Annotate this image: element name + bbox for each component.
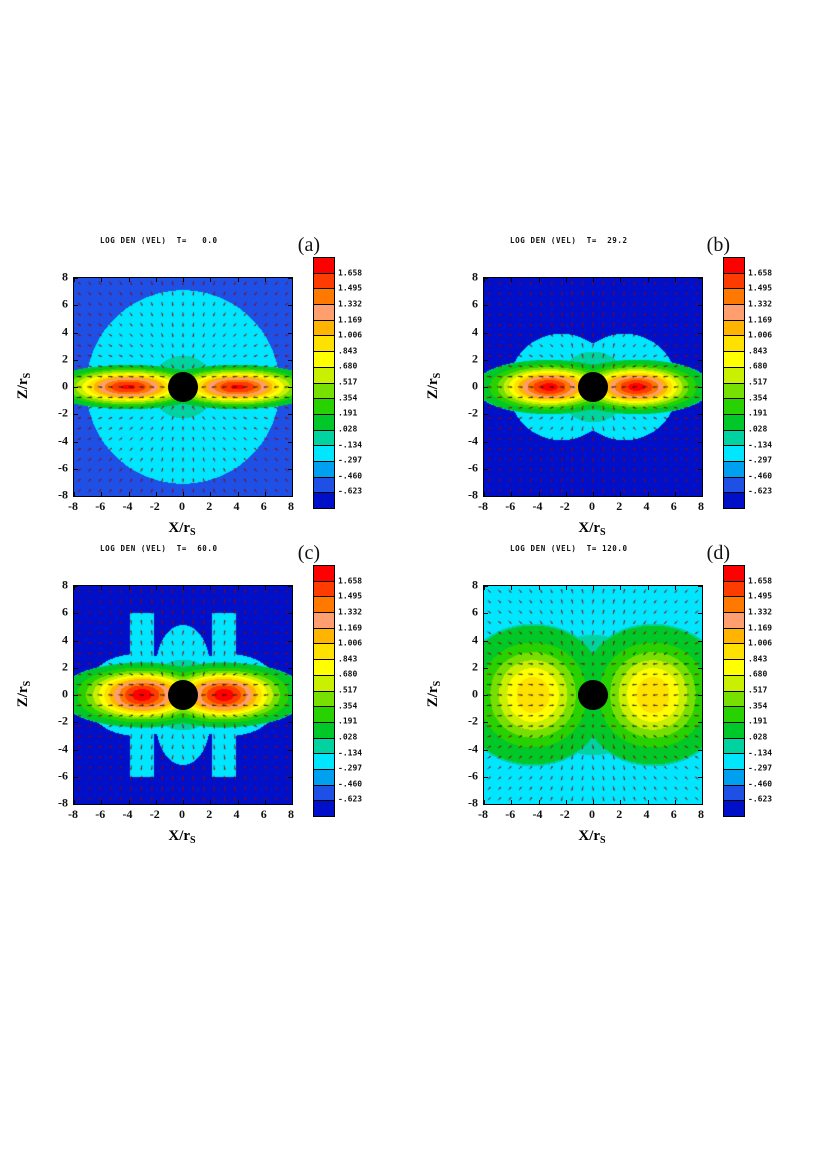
y-tick bbox=[73, 641, 78, 642]
y-tick bbox=[288, 360, 293, 361]
x-tick bbox=[566, 277, 567, 282]
x-tick bbox=[648, 492, 649, 497]
panel-a-plot-area bbox=[73, 277, 293, 497]
x-tick-label: 0 bbox=[589, 807, 595, 822]
colorbar-swatch bbox=[724, 384, 744, 400]
colorbar-swatch bbox=[724, 352, 744, 368]
x-tick-label: 0 bbox=[179, 499, 185, 514]
x-tick-label: 4 bbox=[234, 499, 240, 514]
x-tick bbox=[265, 277, 266, 282]
x-tick bbox=[101, 492, 102, 497]
y-tick-label: 6 bbox=[46, 605, 68, 620]
x-tick bbox=[129, 277, 130, 282]
x-tick-label: -8 bbox=[68, 499, 78, 514]
x-tick-label: 6 bbox=[671, 499, 677, 514]
panel-a-title: LOG DEN (VEL) T= 0.0 bbox=[100, 236, 218, 245]
x-tick bbox=[238, 585, 239, 590]
y-tick-label: -4 bbox=[456, 741, 478, 756]
colorbar-swatch bbox=[314, 321, 334, 337]
panel-d-central-mask bbox=[578, 680, 608, 710]
y-tick-label: -2 bbox=[456, 714, 478, 729]
panel-a-central-mask bbox=[168, 372, 198, 402]
y-tick-label: 6 bbox=[46, 297, 68, 312]
colorbar-swatch bbox=[724, 321, 744, 337]
y-tick bbox=[288, 442, 293, 443]
colorbar-swatch bbox=[314, 352, 334, 368]
y-tick-label: 8 bbox=[456, 270, 478, 285]
colorbar-swatch bbox=[314, 462, 334, 478]
colorbar-swatch bbox=[314, 613, 334, 629]
y-tick-label: 0 bbox=[456, 379, 478, 394]
y-tick bbox=[698, 641, 703, 642]
x-tick bbox=[566, 800, 567, 805]
y-tick-label: -2 bbox=[46, 406, 68, 421]
x-tick bbox=[648, 277, 649, 282]
panel-b: LOG DEN (VEL) T= 29.2 (b) X/rS Z/rS 1.65… bbox=[418, 232, 818, 552]
x-tick bbox=[566, 585, 567, 590]
y-tick bbox=[483, 777, 488, 778]
panel-a-y-axis-title: Z/rS bbox=[15, 373, 33, 399]
colorbar-swatch bbox=[724, 723, 744, 739]
y-tick bbox=[288, 414, 293, 415]
colorbar-tick-label: -.623 bbox=[338, 487, 362, 496]
colorbar-swatch bbox=[724, 582, 744, 598]
y-tick-label: -8 bbox=[456, 796, 478, 811]
colorbar-swatch bbox=[314, 754, 334, 770]
y-tick bbox=[288, 804, 293, 805]
colorbar-tick-label: -.460 bbox=[748, 471, 772, 480]
y-tick bbox=[288, 722, 293, 723]
panel-c-tag: (c) bbox=[298, 542, 320, 565]
colorbar-tick-label: .517 bbox=[748, 378, 767, 387]
x-tick bbox=[539, 492, 540, 497]
colorbar-swatch bbox=[314, 801, 334, 816]
x-tick bbox=[511, 585, 512, 590]
colorbar-swatch bbox=[724, 707, 744, 723]
y-tick-label: 6 bbox=[456, 297, 478, 312]
y-tick bbox=[73, 442, 78, 443]
y-tick bbox=[483, 305, 488, 306]
y-tick-label: -2 bbox=[456, 406, 478, 421]
y-tick bbox=[288, 613, 293, 614]
colorbar-swatch bbox=[724, 644, 744, 660]
x-tick-label: -4 bbox=[123, 499, 133, 514]
y-tick-label: 0 bbox=[46, 687, 68, 702]
y-tick bbox=[483, 414, 488, 415]
colorbar-swatch bbox=[314, 274, 334, 290]
y-tick-label: 4 bbox=[46, 632, 68, 647]
colorbar-tick-label: .680 bbox=[338, 670, 357, 679]
colorbar-tick-label: -.297 bbox=[748, 764, 772, 773]
colorbar-swatch bbox=[724, 305, 744, 321]
colorbar-tick-label: .843 bbox=[338, 654, 357, 663]
colorbar-tick-label: .028 bbox=[338, 732, 357, 741]
x-tick-label: 6 bbox=[261, 807, 267, 822]
colorbar-tick-label: .680 bbox=[338, 362, 357, 371]
y-tick-label: -2 bbox=[46, 714, 68, 729]
x-tick bbox=[593, 585, 594, 590]
colorbar-tick-label: .843 bbox=[748, 346, 767, 355]
colorbar-tick-label: 1.658 bbox=[748, 576, 772, 585]
colorbar-tick-label: .517 bbox=[338, 686, 357, 695]
colorbar-swatch bbox=[724, 415, 744, 431]
colorbar-swatch bbox=[724, 676, 744, 692]
colorbar-tick-label: -.460 bbox=[338, 471, 362, 480]
colorbar-tick-label: -.134 bbox=[338, 440, 362, 449]
x-tick-label: -4 bbox=[533, 807, 543, 822]
y-tick bbox=[73, 668, 78, 669]
x-tick-label: -2 bbox=[560, 807, 570, 822]
panel-d-colorbar-labels: 1.6581.4951.3321.1691.006.843.680.517.35… bbox=[748, 565, 808, 815]
y-tick-label: 2 bbox=[46, 659, 68, 674]
panel-c-title: LOG DEN (VEL) T= 60.0 bbox=[100, 544, 218, 553]
y-tick bbox=[698, 333, 703, 334]
colorbar-tick-label: 1.658 bbox=[338, 268, 362, 277]
x-tick bbox=[292, 800, 293, 805]
colorbar-swatch bbox=[724, 613, 744, 629]
colorbar-tick-label: .354 bbox=[338, 393, 357, 402]
panel-b-title: LOG DEN (VEL) T= 29.2 bbox=[510, 236, 628, 245]
colorbar-swatch bbox=[314, 493, 334, 508]
y-tick bbox=[73, 333, 78, 334]
x-tick bbox=[292, 585, 293, 590]
x-tick-label: 2 bbox=[616, 807, 622, 822]
panel-c: LOG DEN (VEL) T= 60.0 (c) X/rS Z/rS 1.65… bbox=[8, 540, 408, 860]
x-tick bbox=[129, 492, 130, 497]
colorbar-tick-label: .354 bbox=[748, 701, 767, 710]
colorbar-swatch bbox=[314, 739, 334, 755]
y-tick bbox=[483, 668, 488, 669]
x-tick bbox=[620, 277, 621, 282]
x-tick-label: -4 bbox=[533, 499, 543, 514]
panel-b-colorbar-labels: 1.6581.4951.3321.1691.006.843.680.517.35… bbox=[748, 257, 808, 507]
colorbar-tick-label: 1.169 bbox=[748, 623, 772, 632]
y-tick bbox=[73, 469, 78, 470]
colorbar-tick-label: .191 bbox=[338, 717, 357, 726]
colorbar-swatch bbox=[314, 786, 334, 802]
y-tick-label: -6 bbox=[46, 460, 68, 475]
x-tick-label: -2 bbox=[150, 807, 160, 822]
colorbar-swatch bbox=[314, 446, 334, 462]
x-tick bbox=[101, 277, 102, 282]
colorbar-swatch bbox=[724, 770, 744, 786]
x-tick-label: -2 bbox=[560, 499, 570, 514]
panel-b-x-axis-title: X/rS bbox=[578, 520, 605, 538]
y-tick bbox=[698, 586, 703, 587]
x-tick bbox=[210, 277, 211, 282]
colorbar-tick-label: .028 bbox=[338, 424, 357, 433]
x-tick-label: -6 bbox=[95, 499, 105, 514]
x-tick-label: 8 bbox=[698, 807, 704, 822]
colorbar-swatch bbox=[314, 305, 334, 321]
y-tick bbox=[698, 442, 703, 443]
colorbar-swatch bbox=[314, 692, 334, 708]
colorbar-swatch bbox=[314, 368, 334, 384]
y-tick bbox=[73, 722, 78, 723]
colorbar-swatch bbox=[724, 462, 744, 478]
y-tick bbox=[698, 305, 703, 306]
y-tick bbox=[73, 360, 78, 361]
x-tick-label: -8 bbox=[478, 499, 488, 514]
colorbar-swatch bbox=[724, 660, 744, 676]
colorbar-swatch bbox=[314, 582, 334, 598]
y-tick bbox=[698, 613, 703, 614]
x-tick bbox=[675, 492, 676, 497]
y-tick bbox=[698, 804, 703, 805]
colorbar-tick-label: -.623 bbox=[748, 795, 772, 804]
panel-c-central-mask bbox=[168, 680, 198, 710]
x-tick bbox=[129, 800, 130, 805]
x-tick-label: -8 bbox=[68, 807, 78, 822]
x-tick-label: 2 bbox=[616, 499, 622, 514]
x-tick-label: 6 bbox=[671, 807, 677, 822]
colorbar-swatch bbox=[314, 676, 334, 692]
y-tick-label: 4 bbox=[46, 324, 68, 339]
x-tick bbox=[156, 585, 157, 590]
x-tick bbox=[702, 585, 703, 590]
colorbar-swatch bbox=[314, 629, 334, 645]
colorbar-tick-label: 1.169 bbox=[748, 315, 772, 324]
colorbar-tick-label: .680 bbox=[748, 670, 767, 679]
panel-d-plot-area bbox=[483, 585, 703, 805]
panel-d-colorbar bbox=[723, 565, 745, 817]
panel-b-tag: (b) bbox=[707, 234, 730, 257]
x-tick bbox=[265, 800, 266, 805]
colorbar-tick-label: -.297 bbox=[338, 764, 362, 773]
y-tick bbox=[73, 695, 78, 696]
colorbar-tick-label: 1.169 bbox=[338, 315, 362, 324]
colorbar-tick-label: 1.658 bbox=[338, 576, 362, 585]
colorbar-tick-label: .354 bbox=[338, 701, 357, 710]
x-tick bbox=[183, 800, 184, 805]
y-tick-label: 0 bbox=[46, 379, 68, 394]
x-tick bbox=[593, 277, 594, 282]
colorbar-tick-label: -.134 bbox=[748, 440, 772, 449]
x-tick bbox=[511, 277, 512, 282]
colorbar-swatch bbox=[314, 723, 334, 739]
colorbar-swatch bbox=[314, 336, 334, 352]
panel-b-y-axis-title: Z/rS bbox=[425, 373, 443, 399]
colorbar-tick-label: 1.332 bbox=[748, 299, 772, 308]
panel-c-y-axis-title: Z/rS bbox=[15, 681, 33, 707]
figure-root: LOG DEN (VEL) T= 0.0 (a) X/rS Z/rS 1.658… bbox=[0, 0, 830, 1173]
x-tick bbox=[675, 585, 676, 590]
colorbar-tick-label: 1.332 bbox=[748, 607, 772, 616]
y-tick-label: 6 bbox=[456, 605, 478, 620]
x-tick bbox=[484, 800, 485, 805]
x-tick bbox=[183, 585, 184, 590]
colorbar-swatch bbox=[314, 597, 334, 613]
colorbar-tick-label: .191 bbox=[338, 409, 357, 418]
x-tick-label: 4 bbox=[234, 807, 240, 822]
y-tick-label: -8 bbox=[46, 796, 68, 811]
panel-b-colorbar bbox=[723, 257, 745, 509]
colorbar-swatch bbox=[314, 478, 334, 494]
y-tick bbox=[698, 496, 703, 497]
colorbar-tick-label: .028 bbox=[748, 424, 767, 433]
y-tick-label: 2 bbox=[456, 351, 478, 366]
x-tick bbox=[292, 277, 293, 282]
colorbar-swatch bbox=[724, 258, 744, 274]
x-tick bbox=[539, 800, 540, 805]
y-tick bbox=[73, 414, 78, 415]
x-tick bbox=[702, 800, 703, 805]
y-tick bbox=[288, 278, 293, 279]
x-tick bbox=[702, 277, 703, 282]
y-tick bbox=[483, 804, 488, 805]
colorbar-tick-label: -.297 bbox=[338, 456, 362, 465]
y-tick bbox=[698, 750, 703, 751]
colorbar-swatch bbox=[724, 446, 744, 462]
y-tick bbox=[483, 469, 488, 470]
colorbar-tick-label: .354 bbox=[748, 393, 767, 402]
x-tick bbox=[74, 492, 75, 497]
x-tick-label: 4 bbox=[644, 499, 650, 514]
x-tick bbox=[101, 585, 102, 590]
panel-c-colorbar bbox=[313, 565, 335, 817]
x-tick bbox=[292, 492, 293, 497]
colorbar-swatch bbox=[314, 415, 334, 431]
y-tick bbox=[483, 387, 488, 388]
colorbar-tick-label: .028 bbox=[748, 732, 767, 741]
y-tick-label: 4 bbox=[456, 632, 478, 647]
colorbar-tick-label: 1.658 bbox=[748, 268, 772, 277]
y-tick bbox=[483, 722, 488, 723]
x-tick bbox=[484, 492, 485, 497]
x-tick-label: 8 bbox=[698, 499, 704, 514]
colorbar-tick-label: .191 bbox=[748, 717, 767, 726]
y-tick bbox=[73, 613, 78, 614]
panel-d-tag: (d) bbox=[707, 542, 730, 565]
y-tick bbox=[698, 360, 703, 361]
x-tick-label: -2 bbox=[150, 499, 160, 514]
y-tick bbox=[73, 750, 78, 751]
y-tick-label: 8 bbox=[46, 270, 68, 285]
y-tick bbox=[73, 496, 78, 497]
x-tick-label: 0 bbox=[179, 807, 185, 822]
y-tick-label: -6 bbox=[456, 768, 478, 783]
y-tick-label: -6 bbox=[456, 460, 478, 475]
colorbar-tick-label: .680 bbox=[748, 362, 767, 371]
y-tick bbox=[483, 695, 488, 696]
y-tick bbox=[288, 668, 293, 669]
y-tick bbox=[73, 586, 78, 587]
y-tick bbox=[483, 278, 488, 279]
y-tick bbox=[698, 777, 703, 778]
colorbar-swatch bbox=[314, 258, 334, 274]
y-tick-label: 8 bbox=[456, 578, 478, 593]
y-tick bbox=[483, 333, 488, 334]
x-tick bbox=[183, 492, 184, 497]
y-tick bbox=[483, 360, 488, 361]
x-tick bbox=[620, 585, 621, 590]
y-tick bbox=[698, 414, 703, 415]
y-tick bbox=[698, 668, 703, 669]
x-tick bbox=[593, 800, 594, 805]
colorbar-tick-label: 1.495 bbox=[338, 284, 362, 293]
colorbar-swatch bbox=[724, 597, 744, 613]
x-tick-label: 0 bbox=[589, 499, 595, 514]
colorbar-swatch bbox=[314, 399, 334, 415]
x-tick-label: 8 bbox=[288, 807, 294, 822]
panel-d-x-axis-title: X/rS bbox=[578, 828, 605, 846]
x-tick-label: -6 bbox=[505, 499, 515, 514]
colorbar-tick-label: 1.495 bbox=[338, 592, 362, 601]
panel-b-plot-area bbox=[483, 277, 703, 497]
colorbar-swatch bbox=[314, 707, 334, 723]
panel-a: LOG DEN (VEL) T= 0.0 (a) X/rS Z/rS 1.658… bbox=[8, 232, 408, 552]
x-tick bbox=[156, 800, 157, 805]
colorbar-swatch bbox=[314, 644, 334, 660]
colorbar-swatch bbox=[724, 431, 744, 447]
colorbar-tick-label: .843 bbox=[338, 346, 357, 355]
x-tick bbox=[702, 492, 703, 497]
x-tick bbox=[238, 492, 239, 497]
colorbar-swatch bbox=[314, 384, 334, 400]
x-tick-label: -6 bbox=[505, 807, 515, 822]
y-tick bbox=[288, 586, 293, 587]
colorbar-tick-label: 1.495 bbox=[748, 284, 772, 293]
y-tick bbox=[288, 387, 293, 388]
x-tick bbox=[620, 800, 621, 805]
x-tick bbox=[593, 492, 594, 497]
colorbar-tick-label: 1.006 bbox=[748, 331, 772, 340]
x-tick bbox=[101, 800, 102, 805]
colorbar-tick-label: 1.006 bbox=[338, 331, 362, 340]
y-tick bbox=[73, 278, 78, 279]
colorbar-tick-label: 1.332 bbox=[338, 299, 362, 308]
x-tick bbox=[566, 492, 567, 497]
x-tick bbox=[511, 492, 512, 497]
x-tick-label: 4 bbox=[644, 807, 650, 822]
y-tick bbox=[483, 496, 488, 497]
colorbar-tick-label: -.623 bbox=[338, 795, 362, 804]
y-tick bbox=[698, 722, 703, 723]
colorbar-swatch bbox=[724, 754, 744, 770]
y-tick bbox=[288, 496, 293, 497]
x-tick-label: -6 bbox=[95, 807, 105, 822]
colorbar-tick-label: -.297 bbox=[748, 456, 772, 465]
x-tick-label: 8 bbox=[288, 499, 294, 514]
colorbar-tick-label: 1.332 bbox=[338, 607, 362, 616]
panel-a-colorbar-labels: 1.6581.4951.3321.1691.006.843.680.517.35… bbox=[338, 257, 398, 507]
y-tick bbox=[73, 387, 78, 388]
y-tick-label: 2 bbox=[456, 659, 478, 674]
x-tick bbox=[210, 800, 211, 805]
y-tick bbox=[288, 333, 293, 334]
y-tick-label: 8 bbox=[46, 578, 68, 593]
colorbar-swatch bbox=[724, 289, 744, 305]
y-tick bbox=[288, 695, 293, 696]
colorbar-swatch bbox=[724, 692, 744, 708]
colorbar-swatch bbox=[724, 786, 744, 802]
panel-d: LOG DEN (VEL) T= 120.0 (d) X/rS Z/rS 1.6… bbox=[418, 540, 818, 860]
colorbar-swatch bbox=[314, 431, 334, 447]
y-tick bbox=[483, 750, 488, 751]
panel-d-y-axis-title: Z/rS bbox=[425, 681, 443, 707]
colorbar-tick-label: -.460 bbox=[338, 779, 362, 788]
colorbar-tick-label: 1.006 bbox=[748, 639, 772, 648]
y-tick bbox=[288, 641, 293, 642]
y-tick-label: 4 bbox=[456, 324, 478, 339]
x-tick bbox=[511, 800, 512, 805]
x-tick bbox=[156, 277, 157, 282]
x-tick bbox=[648, 585, 649, 590]
y-tick bbox=[483, 586, 488, 587]
x-tick bbox=[539, 585, 540, 590]
x-tick bbox=[265, 585, 266, 590]
x-tick bbox=[210, 492, 211, 497]
